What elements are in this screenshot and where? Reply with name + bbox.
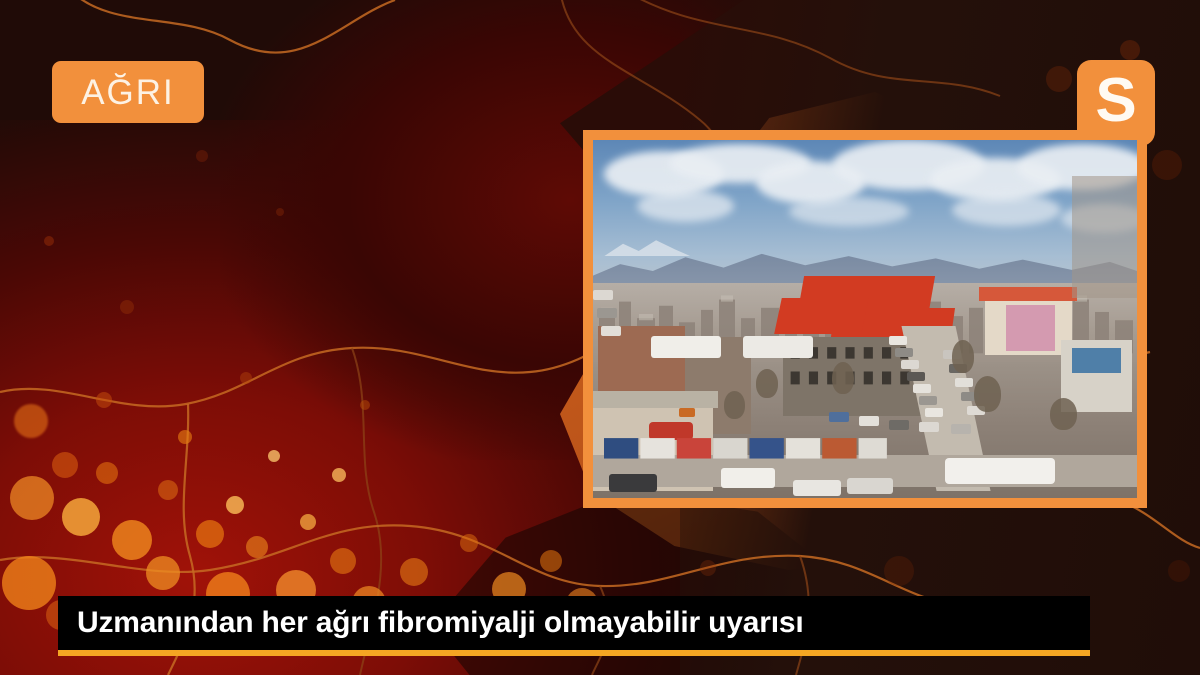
news-card: AĞRI S (0, 0, 1200, 675)
brand-logo-letter: S (1095, 70, 1136, 132)
headline-bar: Uzmanından her ağrı fibromiyalji olmayab… (58, 596, 1090, 650)
headline-underline (58, 650, 1090, 656)
news-photo-frame (583, 130, 1147, 508)
photo-billboards (604, 434, 887, 463)
news-photo (593, 140, 1137, 498)
city-badge: AĞRI (52, 61, 204, 123)
city-badge-label: AĞRI (81, 75, 175, 110)
page-title: Uzmanından her ağrı fibromiyalji olmayab… (77, 608, 803, 638)
